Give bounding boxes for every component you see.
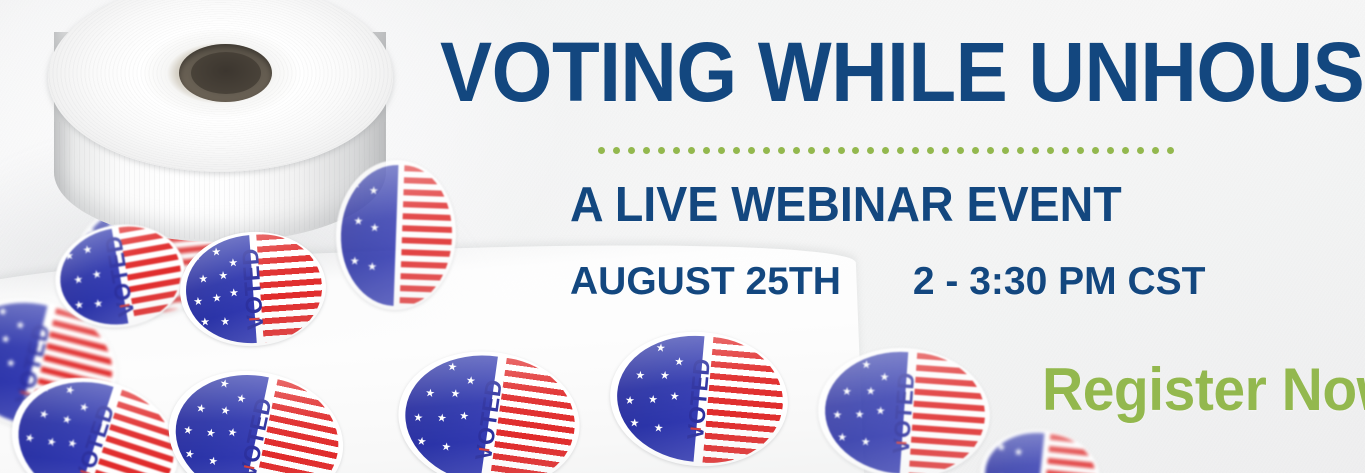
divider-dot	[628, 147, 635, 154]
divider-dot	[1107, 147, 1114, 154]
divider-dot	[643, 147, 650, 154]
divider-dot	[942, 147, 949, 154]
webinar-promo-banner: ★★ ★★ ★★ ★★ ★★ VOTED I ★★ ★★ ★★ VOTED I	[0, 0, 1365, 473]
divider-dot	[1137, 147, 1144, 154]
roll-core-hole	[191, 52, 261, 94]
divider-dot	[1017, 147, 1024, 154]
dotted-divider	[598, 146, 1174, 154]
divider-dot	[1032, 147, 1039, 154]
divider-dot	[867, 147, 874, 154]
divider-dot	[1062, 147, 1069, 154]
event-datetime: AUGUST 25TH2 - 3:30 PM CST	[570, 262, 1210, 301]
page-title: VOTING WHILE UNHOUSED	[440, 30, 1282, 114]
divider-dot	[912, 147, 919, 154]
divider-dot	[718, 147, 725, 154]
event-time: 2 - 3:30 PM CST	[913, 260, 1206, 303]
divider-dot	[852, 147, 859, 154]
divider-dot	[1002, 147, 1009, 154]
register-now-link[interactable]: Register Now	[1042, 360, 1365, 420]
divider-dot	[703, 147, 710, 154]
divider-dot	[972, 147, 979, 154]
divider-dot	[1167, 147, 1174, 154]
divider-dot	[882, 147, 889, 154]
divider-dot	[838, 147, 845, 154]
divider-dot	[823, 147, 830, 154]
divider-dot	[1047, 147, 1054, 154]
divider-dot	[763, 147, 770, 154]
divider-dot	[658, 147, 665, 154]
divider-dot	[598, 147, 605, 154]
event-subtitle: A LIVE WEBINAR EVENT	[570, 181, 1122, 230]
divider-dot	[778, 147, 785, 154]
divider-dot	[1152, 147, 1159, 154]
divider-dot	[793, 147, 800, 154]
divider-dot	[1077, 147, 1084, 154]
divider-dot	[957, 147, 964, 154]
event-date: AUGUST 25TH	[570, 260, 841, 303]
divider-dot	[927, 147, 934, 154]
divider-dot	[748, 147, 755, 154]
divider-dot	[1122, 147, 1129, 154]
divider-dot	[613, 147, 620, 154]
divider-dot	[808, 147, 815, 154]
divider-dot	[688, 147, 695, 154]
divider-dot	[1092, 147, 1099, 154]
divider-dot	[987, 147, 994, 154]
divider-dot	[897, 147, 904, 154]
divider-dot	[673, 147, 680, 154]
divider-dot	[733, 147, 740, 154]
